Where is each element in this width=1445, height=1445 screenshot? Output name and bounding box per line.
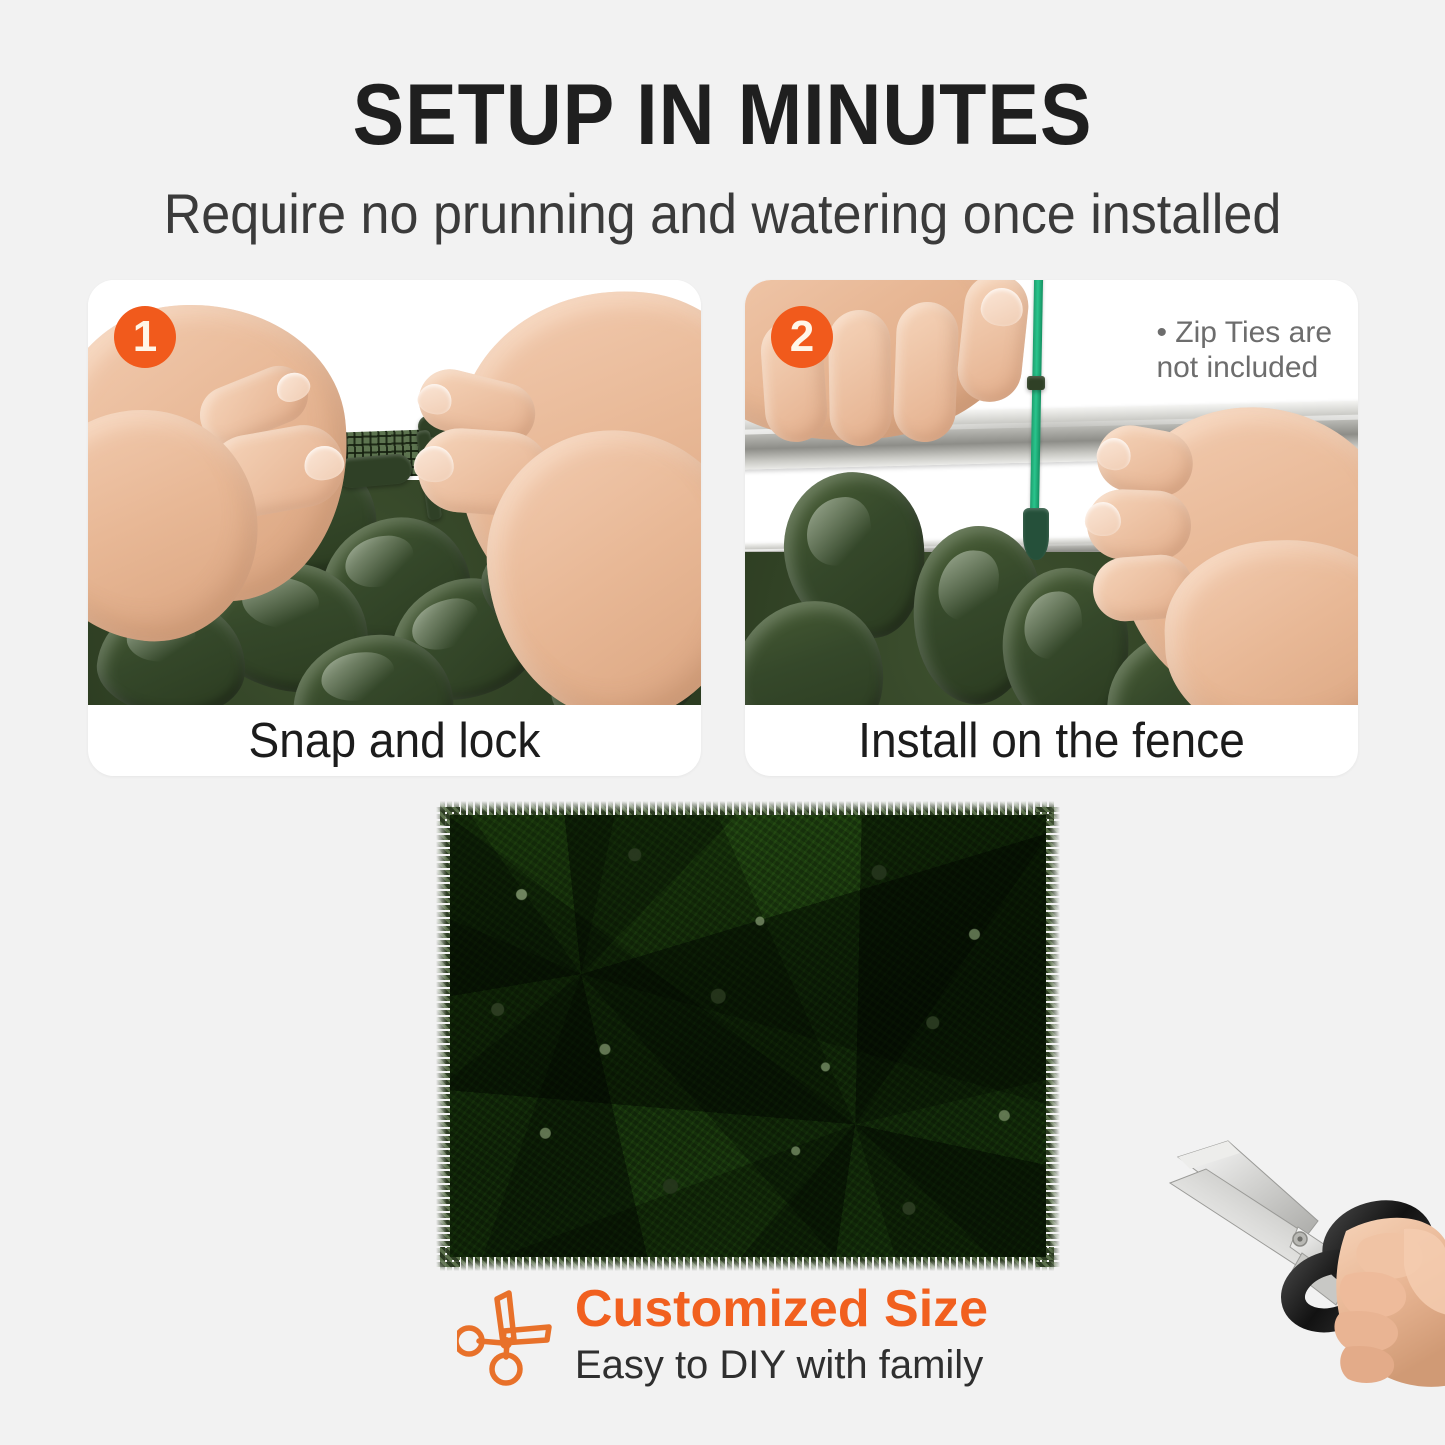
hedge-texture	[450, 815, 1046, 1257]
artificial-hedge-panel	[450, 815, 1046, 1257]
customized-size-strip: Customized Size Easy to DIY with family	[0, 1282, 1445, 1389]
step-1-caption: Snap and lock	[106, 705, 682, 776]
zip-tie-head	[1023, 508, 1049, 560]
step-1-photo: 1	[88, 280, 701, 705]
page-subtitle: Require no prunning and watering once in…	[51, 186, 1395, 242]
zip-ties-note: • Zip Ties are not included	[1156, 315, 1332, 386]
step-card-1: 1 Snap and lock	[88, 280, 701, 776]
step-2-photo: 2 • Zip Ties are not included	[745, 280, 1358, 705]
step-2-caption: Install on the fence	[763, 705, 1339, 776]
customized-size-text: Customized Size Easy to DIY with family	[575, 1282, 988, 1389]
customized-size-title: Customized Size	[575, 1282, 988, 1337]
page-title: SETUP IN MINUTES	[72, 72, 1373, 158]
step-1-badge: 1	[114, 306, 176, 368]
step-card-2: 2 • Zip Ties are not included Install on…	[745, 280, 1358, 776]
step-2-badge: 2	[771, 306, 833, 368]
customized-size-subtitle: Easy to DIY with family	[575, 1341, 988, 1389]
zip-tie	[1030, 280, 1043, 522]
scissors-icon	[457, 1283, 553, 1387]
header: SETUP IN MINUTES Require no prunning and…	[0, 0, 1445, 242]
